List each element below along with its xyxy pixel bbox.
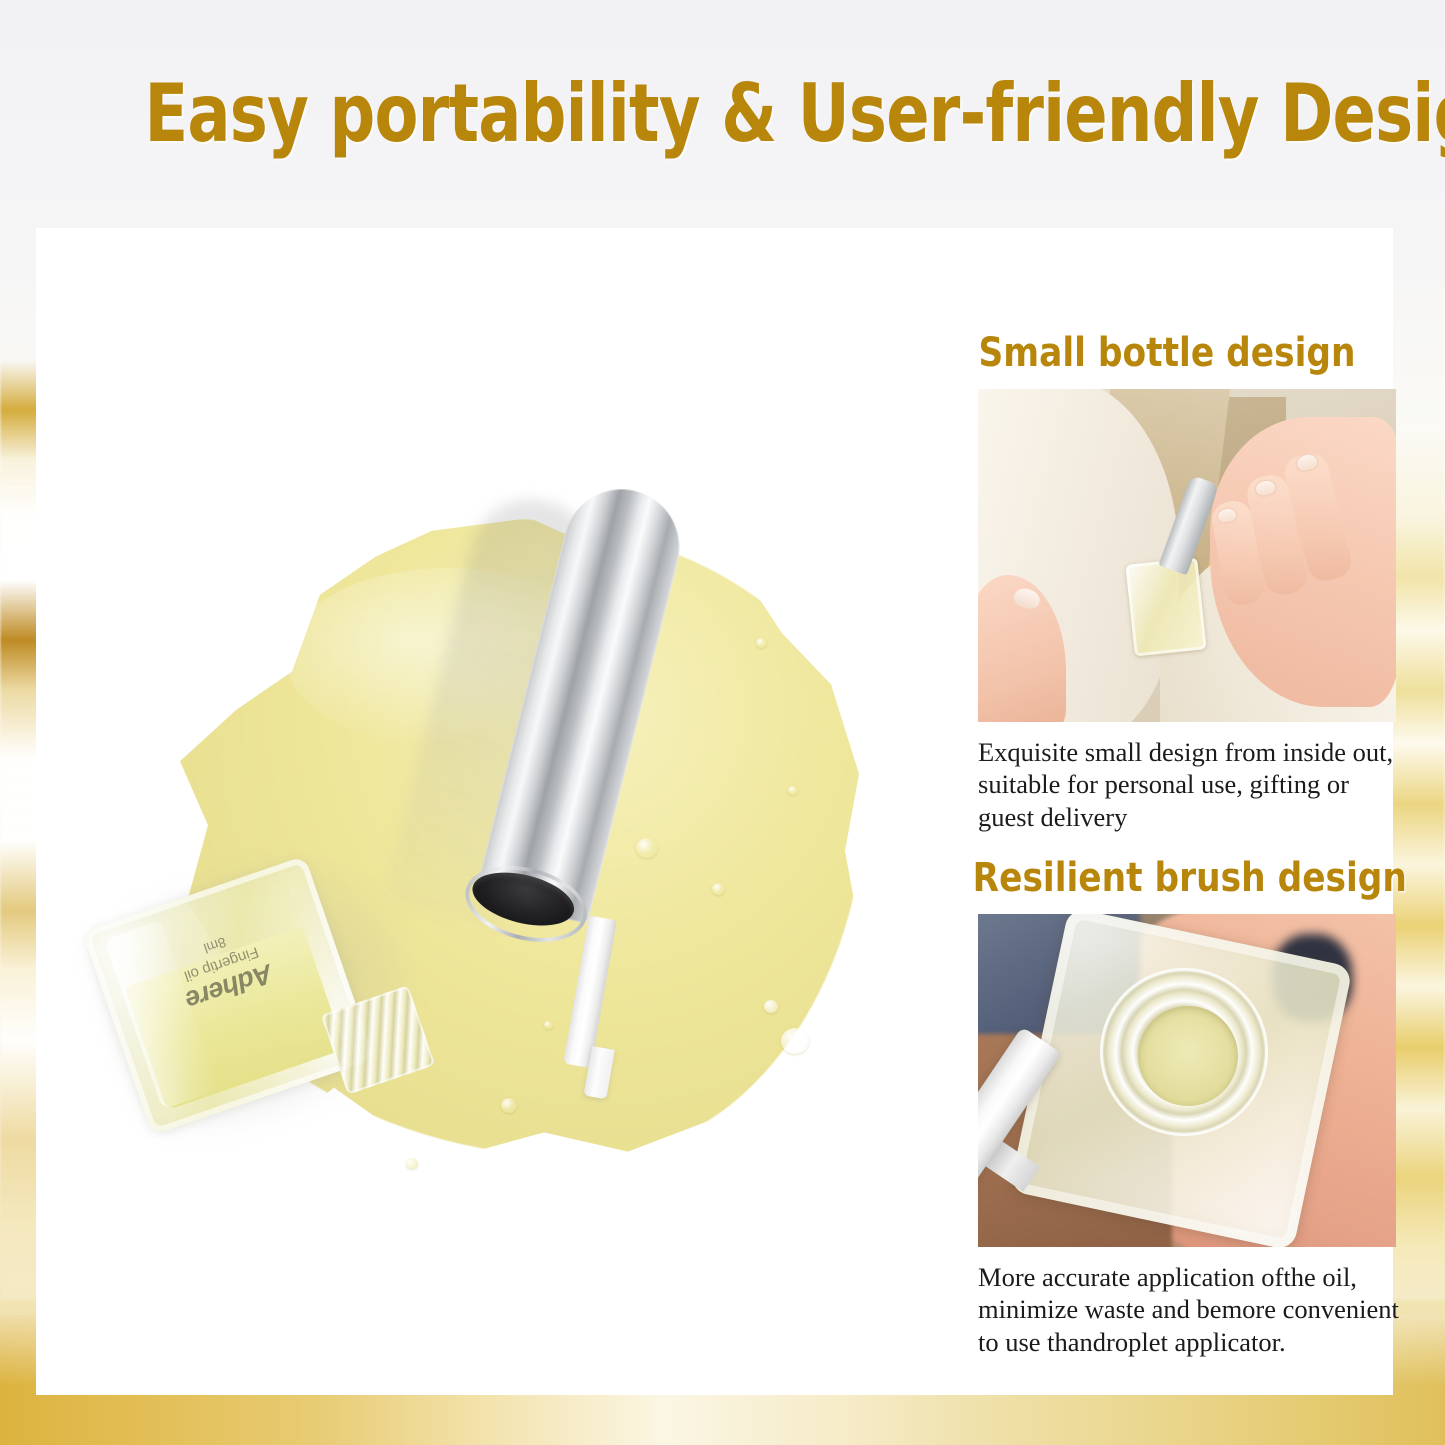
bottle-opening bbox=[1138, 1006, 1238, 1106]
feature-heading: Small bottle design bbox=[973, 333, 1362, 373]
feature-column: Small bottle design bbox=[941, 228, 1393, 1395]
product-hero-composition: Adhere Fingertip oil 8ml bbox=[36, 228, 941, 1395]
feature-caption: Exquisite small design from inside out, … bbox=[978, 736, 1406, 833]
page-title: Easy portability & User-friendly Design bbox=[145, 74, 1301, 154]
oil-droplet bbox=[756, 638, 767, 648]
oil-droplet bbox=[501, 1098, 517, 1113]
oil-droplet bbox=[788, 786, 798, 795]
feature-heading: Resilient brush design bbox=[973, 858, 1362, 898]
water-bubble bbox=[781, 1028, 809, 1054]
oil-droplet bbox=[712, 883, 725, 895]
feature-resilient-brush-design: Resilient brush design More accur bbox=[941, 858, 1393, 1358]
photo-bottle-in-handbag bbox=[978, 389, 1396, 722]
product-feature-banner: Easy portability & User-friendly Design bbox=[0, 0, 1445, 1445]
content-card: Adhere Fingertip oil 8ml Small bottle de… bbox=[36, 228, 1393, 1395]
feature-caption: More accurate application ofthe oil, min… bbox=[978, 1261, 1406, 1358]
oil-droplet bbox=[544, 1021, 553, 1029]
small-glass-bottle bbox=[1125, 557, 1206, 656]
water-bubble bbox=[764, 1000, 778, 1013]
photo-brush-applicator-closeup bbox=[978, 914, 1396, 1247]
feature-small-bottle-design: Small bottle design bbox=[941, 333, 1393, 833]
oil-droplet bbox=[406, 1158, 418, 1169]
oil-droplet bbox=[636, 838, 658, 858]
